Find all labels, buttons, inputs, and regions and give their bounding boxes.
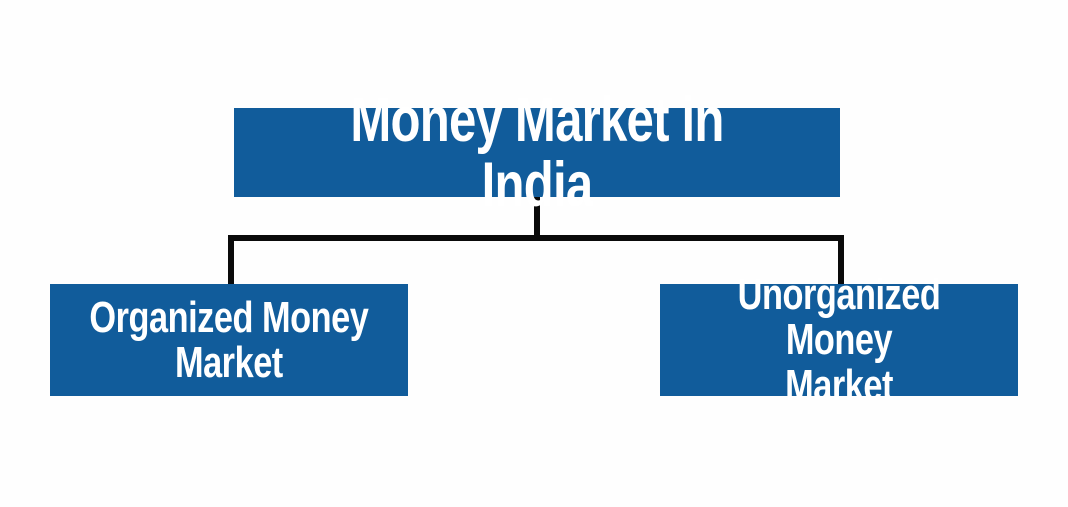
node-child-unorganized-money-market: Unorganized Money Market bbox=[660, 284, 1018, 396]
node-root-money-market-in-india: Money Market in India bbox=[234, 108, 840, 197]
node-child-right-label: Unorganized Money Market bbox=[699, 272, 978, 408]
node-root-label: Money Market in India bbox=[301, 88, 774, 218]
connector-line-drop-left bbox=[228, 235, 234, 286]
node-child-left-label: Organized Money Market bbox=[89, 295, 368, 386]
node-child-organized-money-market: Organized Money Market bbox=[50, 284, 408, 396]
diagram-canvas: Money Market in India Organized Money Ma… bbox=[0, 0, 1068, 507]
connector-line-horizontal-bar bbox=[228, 235, 844, 241]
